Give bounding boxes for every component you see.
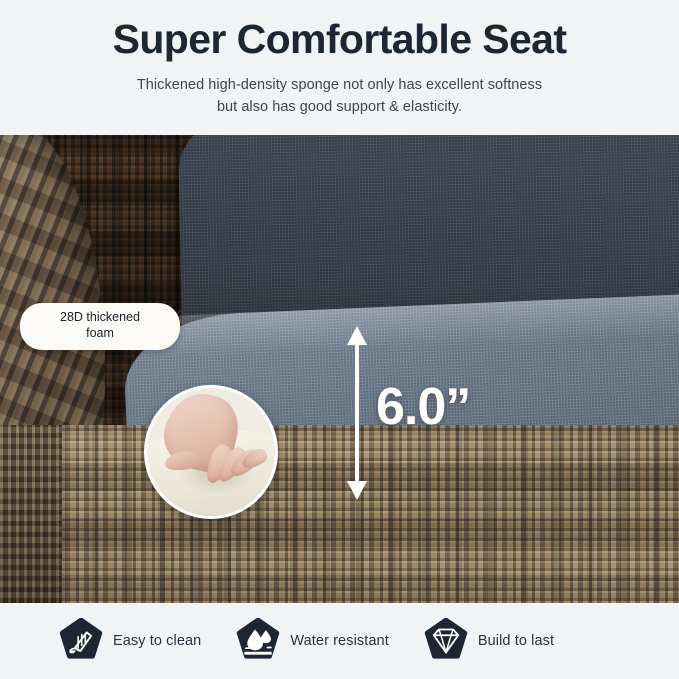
feature-bar: Easy to clean Water resistant Build to l… [0,603,679,679]
header-band: Super Comfortable Seat Thickened high-de… [0,0,679,135]
subtitle-line-1: Thickened high-density sponge not only h… [137,77,542,93]
dimension-value-label: 6.0” [376,381,470,433]
page-subtitle: Thickened high-density sponge not only h… [0,63,679,119]
callout-line-1: 28D thickened [60,310,140,324]
wiping-hand-icon [58,618,104,664]
water-drop-icon [235,618,281,664]
page-title: Super Comfortable Seat [0,0,679,63]
callout-line-2: foam [86,326,114,340]
pressing-hand [163,394,267,486]
foam-closeup-inset [144,385,278,519]
feature-label: Water resistant [290,633,388,649]
wicker-base-left-column [0,425,62,603]
foam-callout-label: 28D thickened foam [20,303,180,350]
subtitle-line-2: but also has good support & elasticity. [217,99,462,115]
feature-easy-to-clean: Easy to clean [58,618,201,664]
feature-water-resistant: Water resistant [235,618,388,664]
product-photo: 28D thickened foam 6.0” [0,135,679,603]
feature-label: Build to last [478,633,554,649]
diamond-icon [423,618,469,664]
product-infographic: Super Comfortable Seat Thickened high-de… [0,0,679,679]
feature-label: Easy to clean [113,633,201,649]
dimension-arrow-icon [340,325,374,501]
feature-build-to-last: Build to last [423,618,554,664]
